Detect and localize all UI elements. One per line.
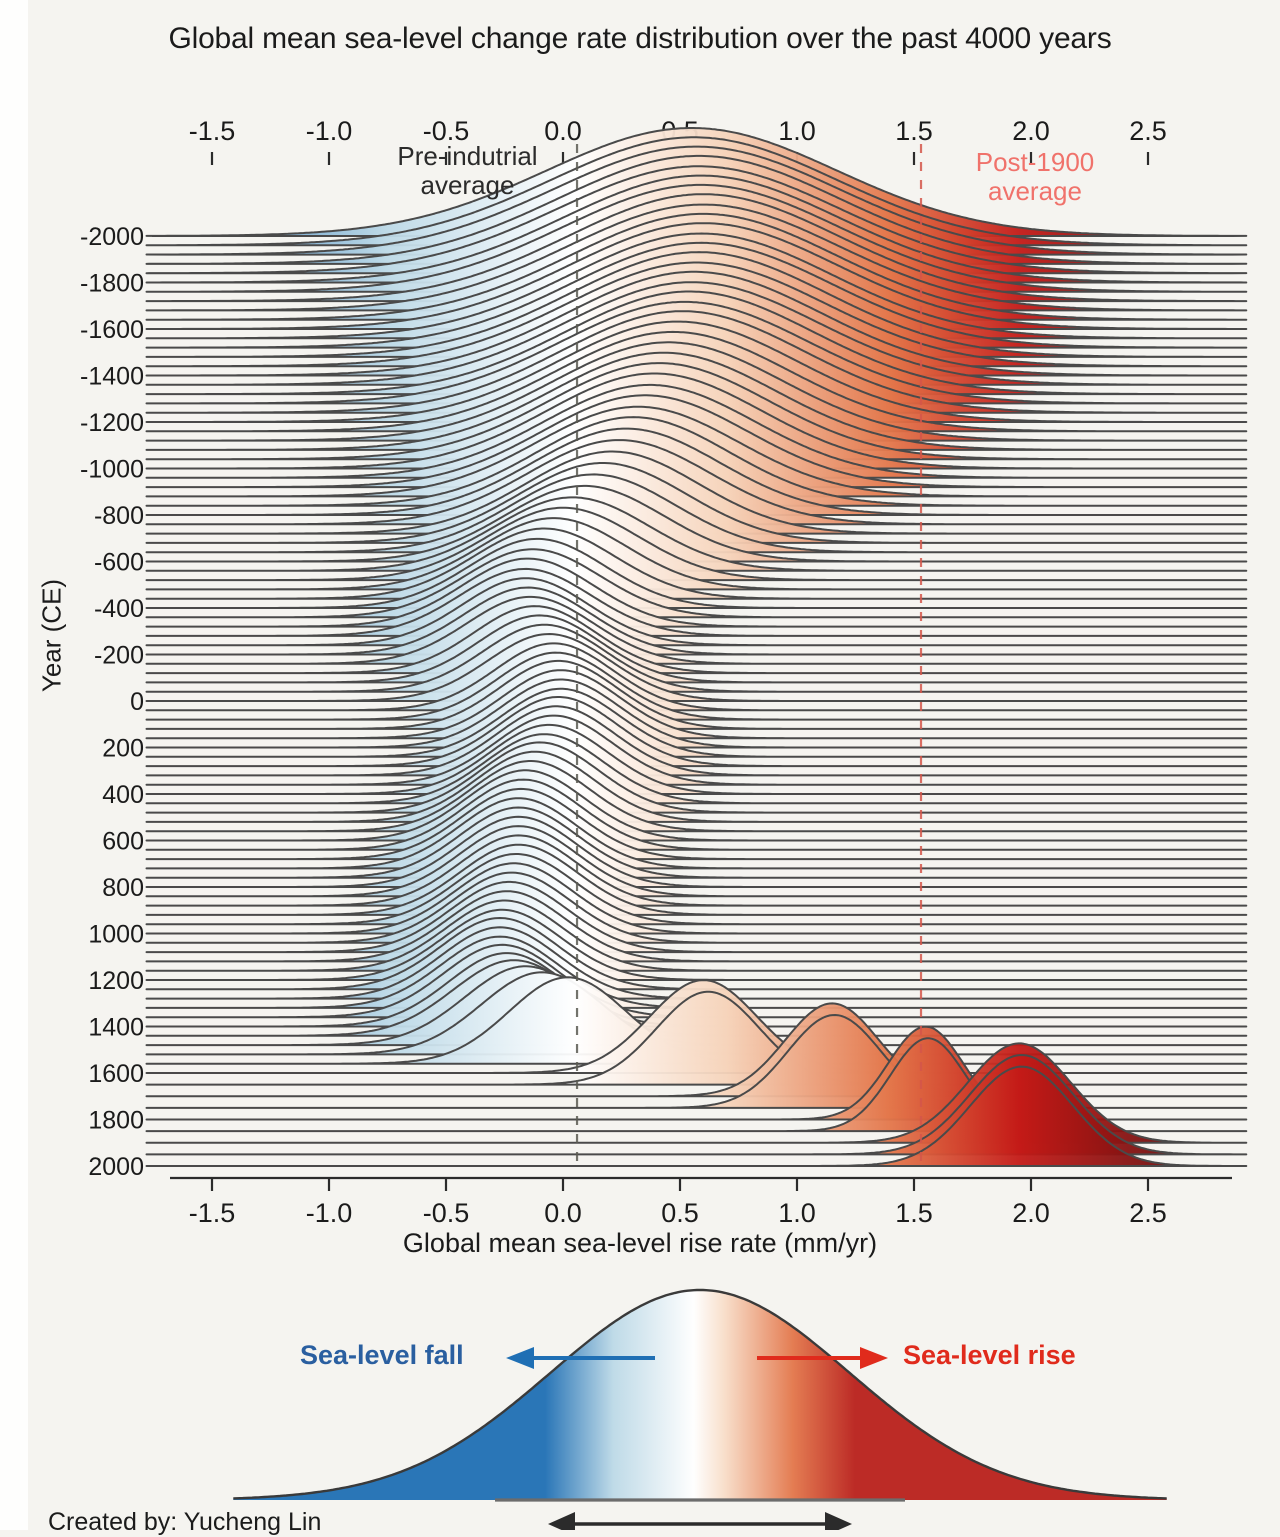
y-axis-tick-label: 1200 [88,967,144,995]
x-axis-top-tick-label: -1.5 [189,116,236,146]
y-axis-tick-label: 1600 [88,1060,144,1088]
ridge-row [147,918,1247,989]
y-axis-tick-label: 400 [102,781,144,809]
x-axis-title: Global mean sea-level rise rate (mm/yr) [0,1228,1280,1259]
x-axis-bottom-tick-label: 0.5 [661,1198,699,1228]
annotation-pre-industrial: Pre-indutrial average [360,142,575,200]
y-axis-tick-label: -1200 [80,409,144,437]
x-axis-top-tick-label: 2.5 [1129,116,1167,146]
annotation-pre-industrial-line2: average [360,171,575,200]
x-axis-top-tick-label: -1.0 [306,116,353,146]
ridge-layer [147,128,1247,1166]
ridge-row [147,992,1247,1085]
legend-sea-level-rise-label: Sea-level rise [903,1340,1076,1371]
ridgeline-chart: -1.5-1.0-0.50.00.51.01.52.02.5-1.5-1.0-0… [0,0,1280,1530]
y-axis-tick-label: -600 [94,549,144,577]
x-axis-bottom-tick-label: -0.5 [423,1198,470,1228]
y-axis-tick-label: -1800 [80,270,144,298]
x-axis-bottom-tick-label: 1.5 [895,1198,933,1228]
x-axis-top-tick-label: 1.0 [778,116,816,146]
x-axis-bottom-tick-label: 0.0 [544,1198,582,1228]
x-axis-bottom-tick-label: 2.0 [1012,1198,1050,1228]
credit-text: Created by: Yucheng Lin [48,1508,321,1537]
legend [233,1290,1166,1530]
x-axis-bottom-tick-label: -1.0 [306,1198,353,1228]
y-axis-tick-label: 800 [102,874,144,902]
y-axis-tick-label: 0 [130,688,144,716]
y-axis-tick-label: -1400 [80,363,144,391]
y-axis-tick-label: 2000 [88,1153,144,1181]
x-axis-bottom-tick-label: 2.5 [1129,1198,1167,1228]
x-axis-top-tick-label: 1.5 [895,116,933,146]
y-axis-tick-label: 600 [102,828,144,856]
x-axis-bottom-tick-label: 1.0 [778,1198,816,1228]
x-axis-bottom-tick-label: -1.5 [189,1198,236,1228]
y-axis-tick-label: 1400 [88,1014,144,1042]
annotation-post-1900-line2: average [930,177,1140,206]
y-axis-tick-label: 200 [102,735,144,763]
x-axis-top-tick-label: 2.0 [1012,116,1050,146]
y-axis-tick-label: -400 [94,595,144,623]
y-axis-tick-label: 1000 [88,921,144,949]
annotation-post-1900-line1: Post-1900 [930,148,1140,177]
y-axis-title: Year (CE) [37,556,68,716]
y-axis-tick-label: -2000 [80,223,144,251]
y-axis-tick-label: -1000 [80,456,144,484]
y-axis-tick-label: -800 [94,502,144,530]
annotation-pre-industrial-line1: Pre-indutrial [360,142,575,171]
y-axis-tick-label: -200 [94,642,144,670]
annotation-post-1900: Post-1900 average [930,148,1140,206]
legend-sea-level-fall-label: Sea-level fall [300,1340,464,1371]
y-axis-tick-label: 1800 [88,1107,144,1135]
y-axis-tick-label: -1600 [80,316,144,344]
